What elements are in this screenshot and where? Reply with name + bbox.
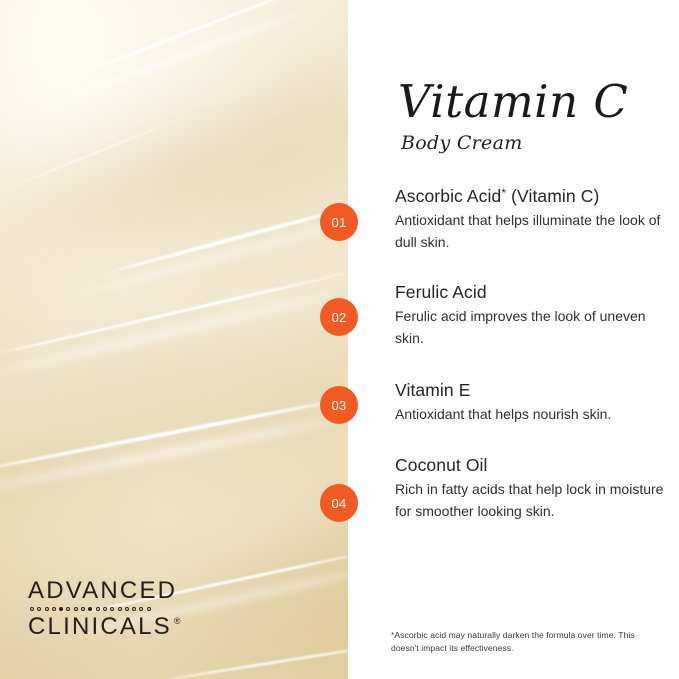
brand-logo-dot: [59, 607, 63, 611]
brand-logo-dot: [37, 607, 41, 611]
brand-logo-dot: [125, 607, 129, 611]
brand-logo: ADVANCED CLINICALS®: [28, 578, 180, 639]
cream-texture-photo: ADVANCED CLINICALS®: [0, 0, 348, 679]
brand-logo-dot: [110, 607, 114, 611]
registered-trademark-icon: ®: [174, 616, 181, 626]
brand-logo-line-1: ADVANCED: [28, 578, 180, 603]
ingredient-description: Ferulic acid improves the look of uneven…: [395, 306, 675, 349]
ingredient-item-02: Ferulic AcidFerulic acid improves the lo…: [395, 282, 675, 349]
ingredient-description: Antioxidant that helps illuminate the lo…: [395, 210, 675, 253]
ingredient-number-badge-02: 02: [320, 298, 358, 336]
brand-logo-dot: [81, 607, 85, 611]
ingredient-description: Antioxidant that helps nourish skin.: [395, 404, 675, 426]
brand-logo-dot: [30, 607, 34, 611]
ingredient-name: Ferulic Acid: [395, 282, 675, 303]
ingredient-number-badge-01: 01: [320, 203, 358, 241]
ingredient-item-04: Coconut OilRich in fatty acids that help…: [395, 455, 675, 522]
content-panel: Vitamin C Body Cream Ascorbic Acid* (Vit…: [348, 0, 679, 679]
brand-logo-dot: [66, 607, 70, 611]
brand-logo-dot: [147, 607, 151, 611]
brand-logo-dot: [45, 607, 49, 611]
footnote-text: *Ascorbic acid may naturally darken the …: [391, 629, 641, 655]
ingredient-description: Rich in fatty acids that help lock in mo…: [395, 479, 675, 522]
ingredient-item-01: Ascorbic Acid* (Vitamin C)Antioxidant th…: [395, 186, 675, 253]
brand-logo-dot: [132, 607, 136, 611]
brand-logo-dot: [103, 607, 107, 611]
brand-logo-dot-row: [30, 605, 180, 613]
brand-logo-dot: [118, 607, 122, 611]
brand-logo-line-2-text: CLINICALS: [28, 613, 172, 640]
footnote-asterisk-icon: *: [501, 186, 506, 200]
ingredient-name: Vitamin E: [395, 380, 675, 401]
brand-logo-dot: [96, 607, 100, 611]
brand-logo-dot: [52, 607, 56, 611]
brand-logo-dot: [139, 607, 143, 611]
product-infographic: ADVANCED CLINICALS® Vitamin C Body Cream…: [0, 0, 679, 679]
brand-logo-dot: [88, 607, 92, 611]
ingredient-list: Ascorbic Acid* (Vitamin C)Antioxidant th…: [348, 0, 679, 679]
ingredient-number-badge-04: 04: [320, 484, 358, 522]
ingredient-name: Coconut Oil: [395, 455, 675, 476]
ingredient-name: Ascorbic Acid* (Vitamin C): [395, 186, 675, 207]
ingredient-number-badge-03: 03: [320, 386, 358, 424]
brand-logo-line-2: CLINICALS®: [28, 614, 180, 639]
ingredient-item-03: Vitamin EAntioxidant that helps nourish …: [395, 380, 675, 426]
brand-logo-dot: [74, 607, 78, 611]
